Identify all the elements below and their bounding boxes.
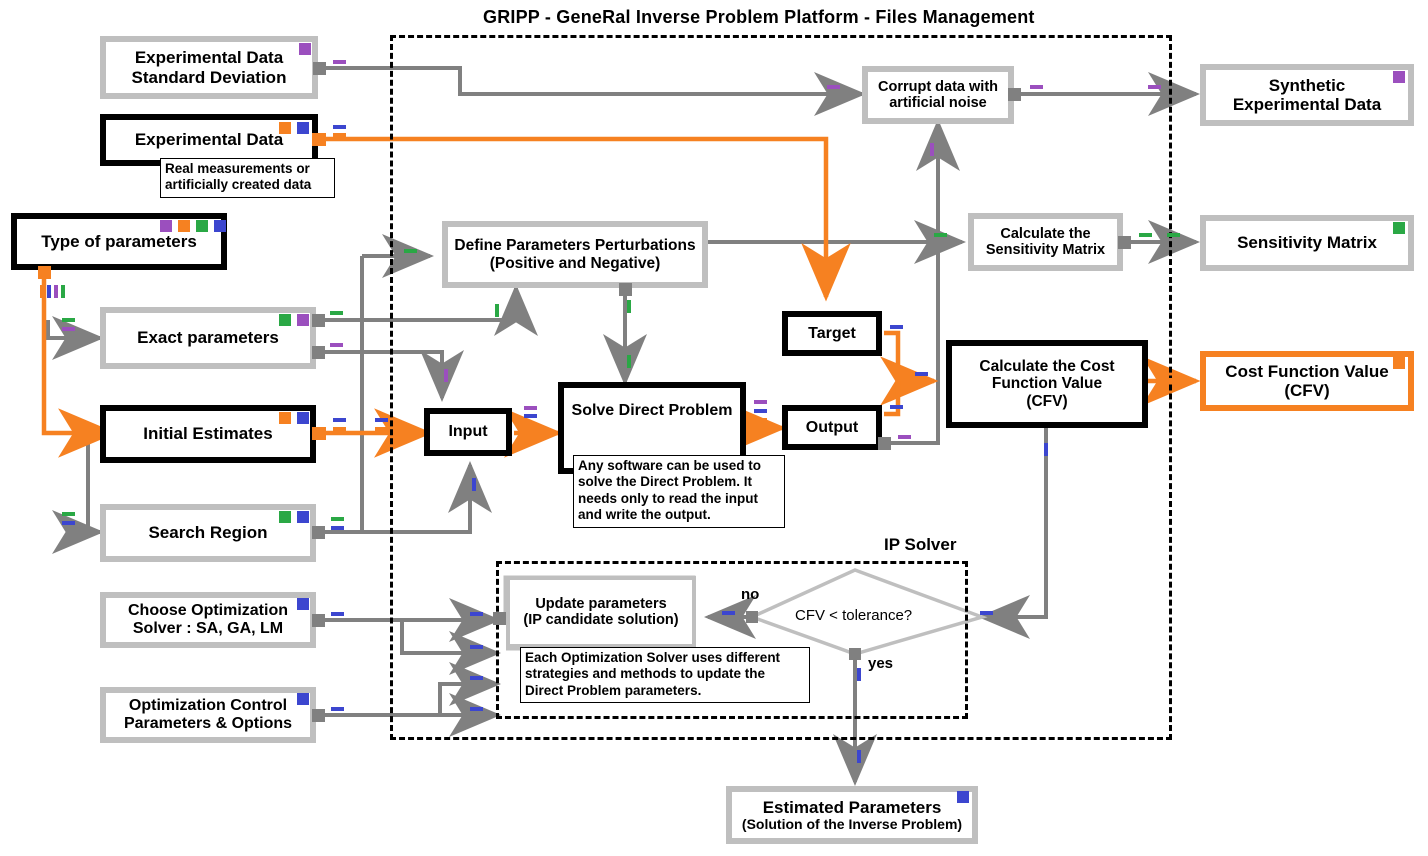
port-exp-data-std (313, 62, 326, 75)
node-label-line2: Sensitivity Matrix (986, 242, 1105, 258)
tag-green (934, 233, 947, 237)
tag-purple (330, 343, 343, 347)
chip-blue (297, 693, 309, 705)
node-label-line1: Solve Direct Problem (572, 402, 733, 420)
tag-blue (331, 526, 344, 530)
node-type-of-parameters[interactable]: Type of parameters (11, 213, 227, 270)
port-type-of-parameters (38, 266, 51, 279)
tag-blue (1044, 443, 1048, 456)
port-initial-estimates (312, 427, 326, 440)
node-label-line2: Function Value (992, 375, 1102, 392)
node-label-line2: Solver : SA, GA, LM (133, 620, 283, 638)
port-corrupt-data (1008, 88, 1021, 101)
tag-green (331, 517, 344, 521)
tag-orange (333, 427, 346, 431)
node-optimization-control-parameters[interactable]: Optimization Control Parameters & Option… (100, 687, 316, 743)
chip-blue (957, 791, 969, 803)
node-experimental-data-standard-deviation[interactable]: Experimental Data Standard Deviation (100, 36, 318, 99)
port-define-perturbations-bottom (619, 283, 632, 296)
note-line1: Each Optimization Solver uses different (525, 650, 805, 666)
node-label-line1: Define Parameters Perturbations (454, 237, 695, 254)
tag-green (330, 311, 343, 315)
note-line2: strategies and methods to update the (525, 666, 805, 682)
chip-orange (279, 122, 291, 134)
node-estimated-parameters[interactable]: Estimated Parameters (Solution of the In… (726, 786, 978, 844)
chip-purple (299, 43, 311, 55)
node-label-line1: Experimental Data (135, 130, 283, 149)
tag-purple (754, 400, 767, 404)
tag-orange (524, 423, 537, 427)
node-label-line2: (Positive and Negative) (490, 255, 661, 272)
node-label-line2: (CFV) (1284, 381, 1329, 400)
tag-blue (980, 611, 993, 615)
tag-green (627, 300, 631, 313)
chip-purple (1393, 71, 1405, 83)
node-label-line2: artificial noise (889, 95, 987, 111)
tag-blue (331, 707, 344, 711)
node-choose-optimization-solver[interactable]: Choose Optimization Solver : SA, GA, LM (100, 592, 316, 648)
tag-purple (827, 85, 840, 89)
tag-purple (333, 60, 346, 64)
tag-blue (857, 668, 861, 681)
tag-green (62, 318, 75, 322)
node-corrupt-data-with-artificial-noise[interactable]: Corrupt data with artificial noise (862, 66, 1014, 124)
tag-blue (333, 125, 346, 129)
tag-purple (930, 143, 934, 156)
node-label-line1: Sensitivity Matrix (1237, 233, 1377, 252)
chip-blue (214, 220, 226, 232)
node-label-line2: (Solution of the Inverse Problem) (742, 817, 962, 833)
note-solve-direct-problem: Any software can be used to solve the Di… (573, 455, 785, 528)
node-label-line1: Target (808, 325, 856, 343)
node-target[interactable]: Target (782, 311, 882, 356)
note-update-parameters: Each Optimization Solver uses different … (520, 647, 810, 703)
note-line2: artificially created data (165, 177, 330, 193)
note-line1: Real measurements or (165, 161, 330, 177)
port-exact-parameters-top (312, 314, 325, 327)
node-label-line1: Type of parameters (41, 232, 197, 251)
port-decision-no (746, 611, 758, 623)
tag-blue (722, 611, 735, 615)
tag-orange (375, 427, 388, 431)
node-label-line1: Cost Function Value (1225, 362, 1388, 381)
chip-purple (297, 314, 309, 326)
port-choose-solver (312, 614, 325, 627)
port-exp-data (312, 133, 326, 146)
node-label-line1: Search Region (148, 523, 267, 542)
tag-blue (754, 409, 767, 413)
note-line3: needs only to read the input (578, 491, 780, 507)
tag-blue (524, 414, 537, 418)
tag-orange (1165, 378, 1178, 382)
tag-blue (890, 325, 903, 329)
tag-blue (472, 478, 476, 491)
node-define-parameters-perturbations[interactable]: Define Parameters Perturbations (Positiv… (442, 221, 708, 288)
tag-purple (54, 285, 58, 298)
tag-orange (754, 418, 767, 422)
node-calculate-cost-function-value[interactable]: Calculate the Cost Function Value (CFV) (946, 340, 1148, 428)
node-label-line1: Update parameters (535, 596, 666, 612)
node-label-line1: Calculate the (1000, 226, 1090, 242)
tag-green (404, 249, 417, 253)
node-label-line2: Experimental Data (1233, 95, 1381, 114)
tag-blue (890, 405, 903, 409)
tag-purple (1148, 85, 1161, 89)
tag-green (62, 512, 75, 516)
node-label-line2: Standard Deviation (132, 68, 287, 87)
node-label-line1: Optimization Control (129, 697, 287, 715)
diagram-canvas: GRIPP - GeneRal Inverse Problem Platform… (0, 0, 1428, 856)
node-sensitivity-matrix[interactable]: Sensitivity Matrix (1200, 215, 1414, 271)
node-label-line1: Synthetic (1269, 76, 1346, 95)
tag-blue (857, 750, 861, 763)
chip-blue (297, 122, 309, 134)
node-calculate-sensitivity-matrix[interactable]: Calculate the Sensitivity Matrix (968, 213, 1123, 271)
node-input[interactable]: Input (424, 408, 512, 456)
tag-green (627, 355, 631, 368)
tag-blue (470, 707, 483, 711)
node-cost-function-value[interactable]: Cost Function Value (CFV) (1200, 351, 1414, 411)
node-label-line2: (IP candidate solution) (523, 612, 678, 628)
node-label-line1: Calculate the Cost (979, 358, 1114, 375)
chip-orange (178, 220, 190, 232)
port-output-bottom (878, 437, 891, 450)
node-label-line1: Exact parameters (137, 328, 279, 347)
tag-orange (333, 133, 346, 137)
tag-blue (470, 612, 483, 616)
node-label-line1: Estimated Parameters (763, 798, 942, 817)
node-label-line3: (CFV) (1026, 393, 1067, 410)
note-line4: and write the output. (578, 507, 780, 523)
tag-blue (333, 418, 346, 422)
port-search-region (312, 526, 325, 539)
decision-no-label: no (741, 586, 759, 603)
chip-blue (297, 412, 309, 424)
tag-blue (470, 645, 483, 649)
node-output[interactable]: Output (782, 405, 882, 450)
tag-green (1139, 233, 1152, 237)
tag-purple (62, 327, 75, 331)
node-label-line1: Experimental Data (135, 48, 283, 67)
chip-green (279, 511, 291, 523)
tag-green (495, 304, 499, 317)
page-title: GRIPP - GeneRal Inverse Problem Platform… (483, 7, 1035, 28)
tag-blue (375, 418, 388, 422)
note-experimental-data: Real measurements or artificially create… (160, 158, 335, 198)
node-label-line1: Input (448, 423, 487, 441)
decision-yes-label: yes (868, 655, 893, 672)
chip-orange (1393, 357, 1405, 369)
node-label-line2: Parameters & Options (124, 715, 292, 733)
tag-blue (470, 676, 483, 680)
note-line2: solve the Direct Problem. It (578, 474, 780, 490)
node-update-parameters[interactable]: Update parameters (IP candidate solution… (506, 576, 696, 648)
port-calc-sensitivity (1118, 236, 1131, 249)
chip-blue (297, 598, 309, 610)
chip-orange (279, 412, 291, 424)
chip-purple (160, 220, 172, 232)
tag-blue (47, 285, 51, 298)
tag-green (1167, 233, 1180, 237)
chip-blue (297, 511, 309, 523)
node-synthetic-experimental-data[interactable]: Synthetic Experimental Data (1200, 64, 1414, 126)
tag-blue (331, 612, 344, 616)
tag-purple (444, 369, 448, 382)
port-decision-yes (849, 648, 861, 660)
tag-blue (62, 521, 75, 525)
note-line3: Direct Problem parameters. (525, 683, 805, 699)
chip-green (279, 314, 291, 326)
port-exact-parameters-bottom (312, 346, 325, 359)
decision-label: CFV < tolerance? (795, 607, 912, 624)
tag-blue (915, 372, 928, 376)
node-label-line1: Choose Optimization (128, 602, 288, 620)
node-label-line1: Output (806, 419, 858, 437)
node-label-line1: Corrupt data with (878, 79, 998, 95)
chip-green (1393, 222, 1405, 234)
tag-purple (1030, 85, 1043, 89)
tag-purple (898, 435, 911, 439)
port-optimization-control (312, 709, 325, 722)
node-label-line1: Initial Estimates (143, 424, 272, 443)
chip-green (196, 220, 208, 232)
tag-green (61, 285, 65, 298)
port-update-parameters-left (493, 612, 506, 625)
tag-orange (40, 285, 44, 298)
note-line1: Any software can be used to (578, 458, 780, 474)
tag-purple (524, 406, 537, 410)
